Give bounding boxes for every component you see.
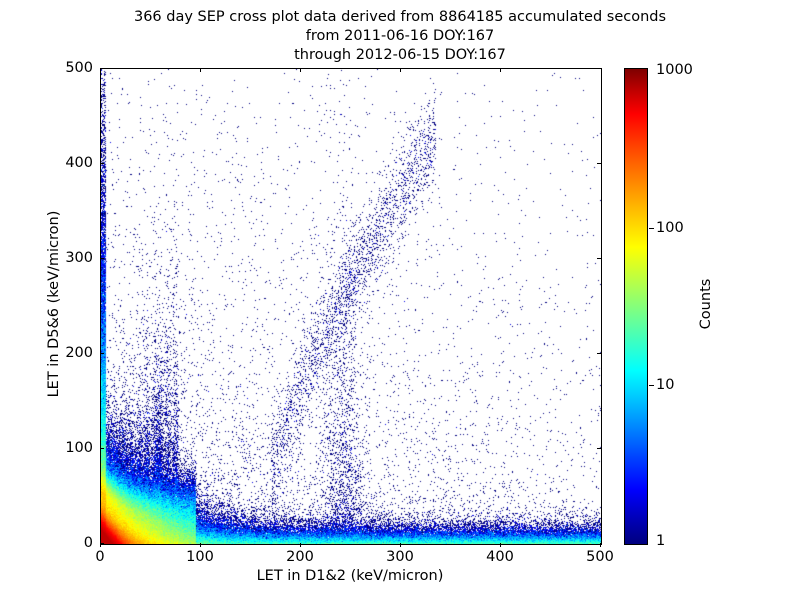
xtick-top-200 xyxy=(300,68,301,72)
ytick-100 xyxy=(100,448,104,449)
density-scatter-plot xyxy=(101,69,601,544)
xtick-label-0: 0 xyxy=(95,549,104,565)
xtick-400 xyxy=(500,543,501,547)
colorbar-tick-10 xyxy=(649,385,654,386)
plot-title: 366 day SEP cross plot data derived from… xyxy=(0,8,800,65)
ytick-right-100 xyxy=(597,448,601,449)
colorbar-axis-label: Counts xyxy=(698,204,714,404)
xtick-label-300: 300 xyxy=(386,549,414,565)
xtick-top-100 xyxy=(200,68,201,72)
xtick-label-500: 500 xyxy=(586,549,614,565)
xtick-300 xyxy=(400,543,401,547)
ytick-right-400 xyxy=(597,163,601,164)
x-axis-label: LET in D1&2 (keV/micron) xyxy=(100,568,600,584)
ytick-right-200 xyxy=(597,353,601,354)
xtick-label-400: 400 xyxy=(486,549,514,565)
xtick-200 xyxy=(300,543,301,547)
colorbar-tick-100 xyxy=(649,228,654,229)
ytick-500 xyxy=(100,68,104,69)
ytick-label-100: 100 xyxy=(65,440,93,456)
colorbar-label-100: 100 xyxy=(656,220,684,236)
xtick-label-200: 200 xyxy=(286,549,314,565)
plot-title-line-2: from 2011-06-16 DOY:167 xyxy=(0,27,800,46)
ytick-label-300: 300 xyxy=(65,250,93,266)
ytick-label-0: 0 xyxy=(84,535,93,551)
colorbar-label-10: 10 xyxy=(656,377,674,393)
figure-canvas: 366 day SEP cross plot data derived from… xyxy=(0,0,800,600)
xtick-top-400 xyxy=(500,68,501,72)
colorbar-gradient xyxy=(624,68,648,545)
ytick-label-500: 500 xyxy=(65,60,93,76)
main-axes xyxy=(100,68,602,545)
ytick-label-400: 400 xyxy=(65,155,93,171)
ytick-right-300 xyxy=(597,258,601,259)
colorbar-label-1: 1 xyxy=(656,533,665,549)
ytick-0 xyxy=(100,543,104,544)
colorbar-label-1000: 1000 xyxy=(656,62,693,78)
ytick-200 xyxy=(100,353,104,354)
y-axis-label: LET in D5&6 (keV/micron) xyxy=(46,154,62,454)
plot-title-line-1: 366 day SEP cross plot data derived from… xyxy=(0,8,800,27)
ytick-400 xyxy=(100,163,104,164)
ytick-label-200: 200 xyxy=(65,345,93,361)
xtick-label-100: 100 xyxy=(186,549,214,565)
xtick-100 xyxy=(200,543,201,547)
xtick-top-300 xyxy=(400,68,401,72)
xtick-500 xyxy=(600,543,601,547)
ytick-300 xyxy=(100,258,104,259)
